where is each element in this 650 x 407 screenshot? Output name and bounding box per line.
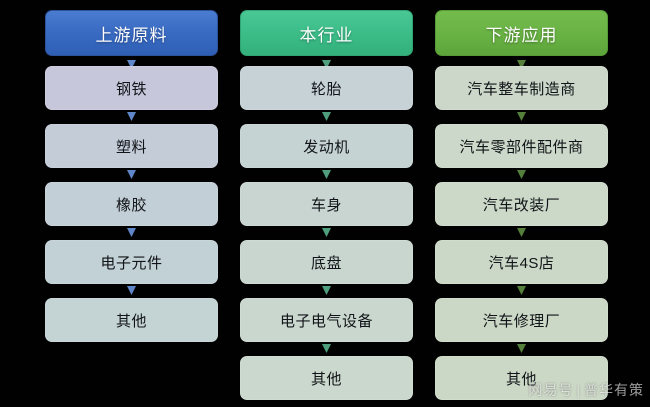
node-box: 其他 bbox=[435, 356, 608, 400]
node-box: 塑料 bbox=[45, 124, 218, 168]
connector-arrow-down-icon bbox=[322, 286, 331, 295]
node-box: 汽车改装厂 bbox=[435, 182, 608, 226]
column-header-downstream: 下游应用 bbox=[435, 10, 608, 56]
node-box: 汽车整车制造商 bbox=[435, 66, 608, 110]
node-box: 发动机 bbox=[240, 124, 413, 168]
node-box: 汽车4S店 bbox=[435, 240, 608, 284]
node-box: 电子元件 bbox=[45, 240, 218, 284]
node-box: 轮胎 bbox=[240, 66, 413, 110]
connector-arrow-down-icon bbox=[517, 344, 526, 353]
node-box: 汽车零部件配件商 bbox=[435, 124, 608, 168]
connector-arrow-down-icon bbox=[127, 170, 136, 179]
connector-arrow-down-icon bbox=[322, 170, 331, 179]
connector-arrow-down-icon bbox=[127, 286, 136, 295]
column-header-upstream: 上游原料 bbox=[45, 10, 218, 56]
connector-arrow-down-icon bbox=[322, 112, 331, 121]
node-box: 底盘 bbox=[240, 240, 413, 284]
node-box: 钢铁 bbox=[45, 66, 218, 110]
node-box: 其他 bbox=[45, 298, 218, 342]
column-header-industry: 本行业 bbox=[240, 10, 413, 56]
connector-arrow-down-icon bbox=[322, 228, 331, 237]
connector-arrow-down-icon bbox=[517, 286, 526, 295]
connector-arrow-down-icon bbox=[322, 344, 331, 353]
node-box: 汽车修理厂 bbox=[435, 298, 608, 342]
node-box: 橡胶 bbox=[45, 182, 218, 226]
node-box: 车身 bbox=[240, 182, 413, 226]
node-box: 其他 bbox=[240, 356, 413, 400]
connector-arrow-down-icon bbox=[127, 112, 136, 121]
node-box: 电子电气设备 bbox=[240, 298, 413, 342]
connector-arrow-down-icon bbox=[517, 170, 526, 179]
connector-arrow-down-icon bbox=[127, 228, 136, 237]
connector-arrow-down-icon bbox=[517, 112, 526, 121]
connector-arrow-down-icon bbox=[517, 228, 526, 237]
diagram-canvas: 上游原料钢铁塑料橡胶电子元件其他 本行业轮胎发动机车身底盘电子电气设备其他 下游… bbox=[0, 0, 650, 407]
